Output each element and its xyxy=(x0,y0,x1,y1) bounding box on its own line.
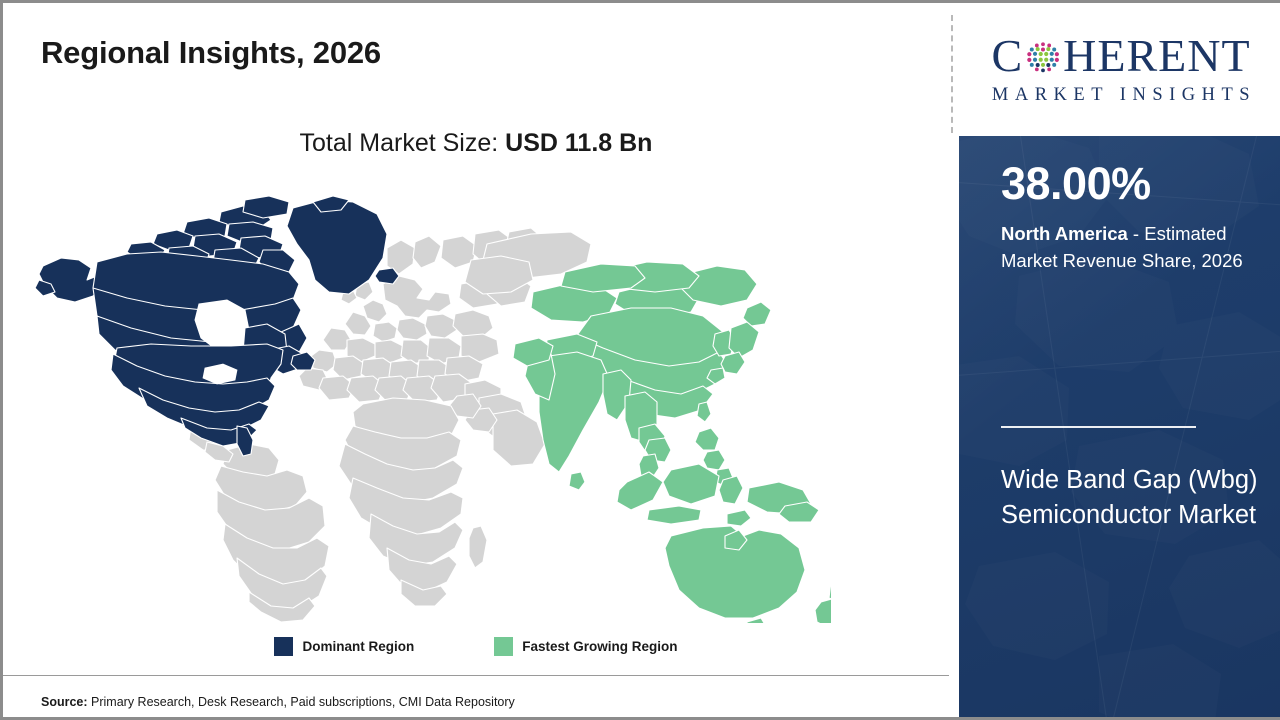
market-share-percent: 38.00% xyxy=(1001,161,1151,206)
source-text: Primary Research, Desk Research, Paid su… xyxy=(88,695,515,709)
legend-label-dominant: Dominant Region xyxy=(302,639,414,654)
panel-divider xyxy=(951,15,953,133)
legend-label-fastest-growing: Fastest Growing Region xyxy=(522,639,677,654)
source-divider xyxy=(3,675,949,676)
logo-text-herent: HERENT xyxy=(1063,33,1250,79)
slide-canvas: Regional Insights, 2026 Total Market Siz… xyxy=(0,0,1280,720)
world-map: .g { fill:#d4d4d4; stroke:#ffffff; strok… xyxy=(31,188,831,623)
legend-swatch-fastest-growing xyxy=(494,637,513,656)
total-market-size-value: USD 11.8 Bn xyxy=(505,129,652,157)
world-map-container: .g { fill:#d4d4d4; stroke:#ffffff; strok… xyxy=(31,188,831,623)
dominant-region-name: North America xyxy=(1001,223,1128,244)
logo-wordmark: C xyxy=(991,30,1250,82)
legend-item-dominant: Dominant Region xyxy=(274,637,414,656)
market-share-description: North America - Estimated Market Revenue… xyxy=(1001,221,1267,274)
total-market-size: Total Market Size: USD 11.8 Bn xyxy=(3,129,949,158)
panel-divider-rule xyxy=(1001,426,1196,428)
market-report-title: Wide Band Gap (Wbg) Semiconductor Market xyxy=(1001,463,1259,533)
total-market-size-label: Total Market Size: xyxy=(300,129,506,157)
right-panel: C xyxy=(959,3,1280,720)
stats-panel-content: 38.00% North America - Estimated Market … xyxy=(959,136,1280,720)
legend-swatch-dominant xyxy=(274,637,293,656)
logo-subtitle: MARKET INSIGHTS xyxy=(986,85,1256,106)
brand-logo: C xyxy=(959,3,1280,133)
logo-letter-c: C xyxy=(991,33,1023,79)
map-legend: Dominant Region Fastest Growing Region xyxy=(3,637,949,656)
source-note: Source: Primary Research, Desk Research,… xyxy=(41,695,515,709)
page-title: Regional Insights, 2026 xyxy=(41,35,381,71)
map-content-area: Regional Insights, 2026 Total Market Siz… xyxy=(3,3,949,720)
stats-panel: 38.00% North America - Estimated Market … xyxy=(959,136,1280,720)
globe-dots-icon xyxy=(1024,39,1062,77)
legend-item-fastest-growing: Fastest Growing Region xyxy=(494,637,677,656)
source-label: Source: xyxy=(41,695,88,709)
